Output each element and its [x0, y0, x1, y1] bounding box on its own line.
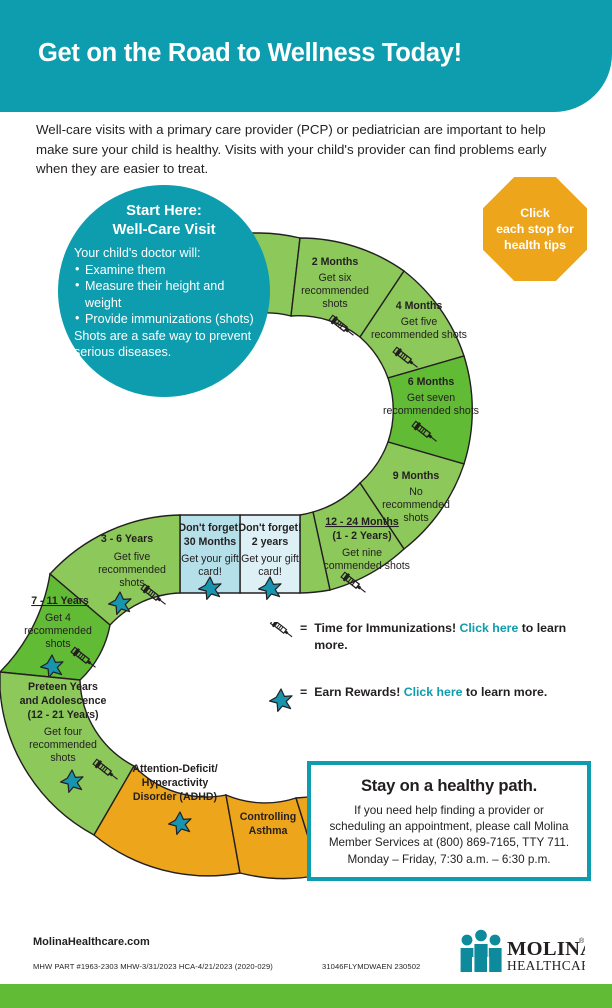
star-icon — [266, 684, 300, 719]
legend-row-immunizations: = Time for Immunizations! Click here to … — [266, 620, 596, 653]
svg-text:(1 - 2 Years): (1 - 2 Years) — [332, 530, 391, 542]
svg-text:7 - 11 Years: 7 - 11 Years — [31, 595, 89, 607]
svg-text:Get nine: Get nine — [342, 547, 382, 559]
svg-text:shots: shots — [322, 298, 347, 310]
svg-text:3 - 6 Years: 3 - 6 Years — [101, 533, 153, 545]
page-title: Get on the Road to Wellness Today! — [38, 39, 462, 68]
start-circle-bullet-list: Examine them Measure their height and we… — [74, 262, 254, 328]
legend: = Time for Immunizations! Click here to … — [266, 620, 596, 750]
syringe-icon — [266, 620, 300, 649]
legend-row-rewards: = Earn Rewards! Click here to learn more… — [266, 684, 596, 719]
start-circle-footnote: Shots are a safe way to prevent serious … — [74, 328, 254, 361]
footer-legal-text: MHW PART #1963-2303 MHW-3/31/2023 HCA-4/… — [33, 962, 273, 971]
svg-text:Get four: Get four — [44, 726, 83, 738]
svg-text:Get your gift: Get your gift — [181, 553, 239, 565]
road-segment-2-years-gift[interactable]: Don't forget! 2 years Get your gift card… — [238, 515, 301, 599]
svg-text:Asthma: Asthma — [249, 825, 288, 837]
legend-click-here-link[interactable]: Click here — [460, 621, 519, 635]
legend-text-before: Time for Immunizations! — [314, 621, 459, 635]
logo-wordmark-molina: MOLINA — [507, 938, 585, 960]
svg-text:Controlling: Controlling — [240, 811, 297, 823]
start-here-well-care-visit-circle[interactable]: Start Here: Well-Care Visit Your child's… — [58, 185, 270, 397]
svg-text:30 Months: 30 Months — [184, 536, 236, 548]
svg-text:9 Months: 9 Months — [393, 470, 440, 482]
svg-text:card!: card! — [258, 566, 282, 578]
start-heading-line-2: Well-Care Visit — [112, 222, 215, 238]
stay-healthy-path-box: Stay on a healthy path. If you need help… — [307, 761, 591, 881]
legend-equals: = — [300, 684, 314, 701]
svg-text:recommended: recommended — [29, 739, 97, 751]
healthy-path-title: Stay on a healthy path. — [325, 776, 573, 796]
legend-label: Earn Rewards! Click here to learn more. — [314, 684, 547, 701]
svg-text:Hyperactivity: Hyperactivity — [142, 777, 209, 789]
legend-click-here-link[interactable]: Click here — [404, 685, 463, 699]
start-circle-lead: Your child's doctor will: — [74, 245, 254, 262]
list-item: Provide immunizations (shots) — [74, 311, 254, 328]
svg-text:Get 4: Get 4 — [45, 612, 71, 624]
footer-website[interactable]: MolinaHealthcare.com — [33, 936, 150, 948]
svg-text:shots: shots — [119, 577, 144, 589]
svg-text:Attention-Deficit/: Attention-Deficit/ — [132, 763, 217, 775]
svg-text:4 Months: 4 Months — [396, 300, 443, 312]
svg-text:recommended shots: recommended shots — [314, 560, 410, 572]
svg-text:Don't forget!: Don't forget! — [178, 522, 241, 534]
svg-text:shots: shots — [403, 512, 428, 524]
svg-text:6 Months: 6 Months — [408, 376, 455, 388]
svg-text:Get five: Get five — [401, 316, 438, 328]
svg-text:recommended: recommended — [24, 625, 92, 637]
svg-text:2 years: 2 years — [252, 536, 289, 548]
start-heading-line-1: Start Here: — [126, 203, 202, 219]
svg-text:Preteen Years: Preteen Years — [28, 681, 98, 693]
footer-document-code: 31046FLYMDWAEN 230502 — [322, 962, 420, 971]
svg-text:shots: shots — [45, 638, 70, 650]
svg-text:Get your gift: Get your gift — [241, 553, 299, 565]
svg-text:shots: shots — [50, 752, 75, 764]
svg-text:(12 - 21 Years): (12 - 21 Years) — [27, 709, 98, 721]
start-circle-heading: Start Here: Well-Care Visit — [74, 202, 254, 240]
svg-text:recommended: recommended — [98, 564, 166, 576]
molina-healthcare-logo: MOLINA ® HEALTHCARE — [455, 927, 585, 975]
svg-text:Don't forget!: Don't forget! — [238, 522, 301, 534]
svg-text:recommended shots: recommended shots — [383, 405, 479, 417]
legend-text-before: Earn Rewards! — [314, 685, 404, 699]
svg-text:recommended: recommended — [301, 285, 369, 297]
svg-text:Disorder (ADHD): Disorder (ADHD) — [133, 791, 217, 803]
svg-text:recommended: recommended — [382, 499, 450, 511]
svg-text:card!: card! — [198, 566, 222, 578]
svg-text:Get six: Get six — [319, 272, 353, 284]
svg-text:No: No — [409, 486, 423, 498]
svg-text:12 - 24 Months: 12 - 24 Months — [325, 516, 399, 528]
logo-registered-mark: ® — [579, 937, 585, 945]
logo-wordmark-healthcare: HEALTHCARE — [507, 958, 585, 973]
svg-text:Get five: Get five — [114, 551, 151, 563]
list-item: Measure their height and weight — [74, 278, 254, 311]
svg-text:recommended shots: recommended shots — [371, 329, 467, 341]
svg-text:and Adolescence: and Adolescence — [20, 695, 107, 707]
legend-label: Time for Immunizations! Click here to le… — [314, 620, 596, 653]
healthy-path-body: If you need help finding a provider or s… — [325, 803, 573, 868]
svg-text:Get seven: Get seven — [407, 392, 455, 404]
legend-equals: = — [300, 620, 314, 637]
footer-green-bar — [0, 984, 612, 1008]
header-band: Get on the Road to Wellness Today! — [0, 0, 612, 112]
svg-text:2 Months: 2 Months — [312, 256, 359, 268]
list-item: Examine them — [74, 262, 254, 279]
legend-text-after: to learn more. — [463, 685, 548, 699]
road-segment-30-months-gift[interactable]: Don't forget! 30 Months Get your gift ca… — [178, 515, 241, 599]
